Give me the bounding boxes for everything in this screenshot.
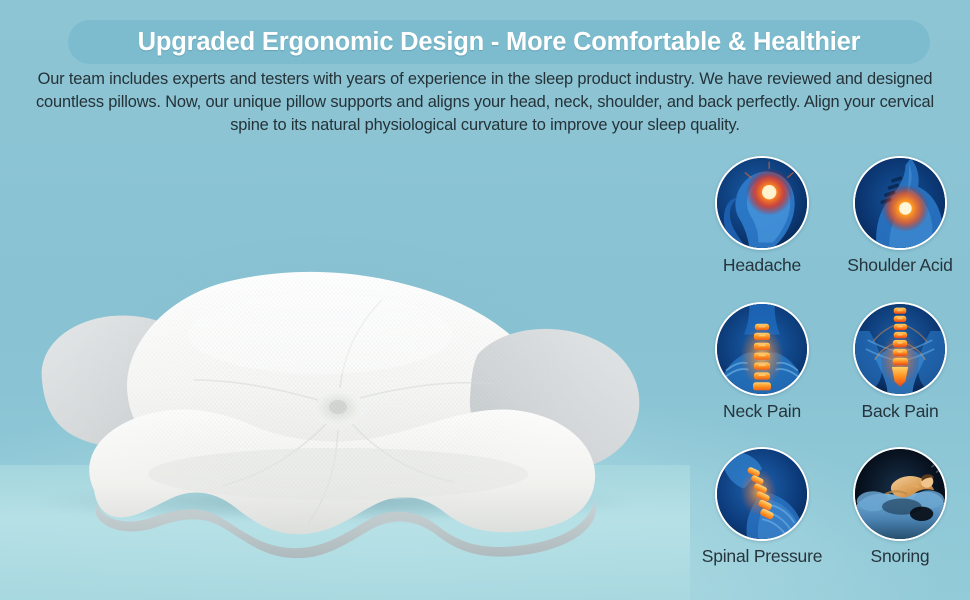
benefit-item-snoring[interactable]: Snoring [838, 447, 962, 566]
headline-text: Upgraded Ergonomic Design - More Comfort… [138, 28, 861, 57]
benefit-item-neck-pain[interactable]: Neck Pain [700, 302, 824, 421]
pillow-dimple-core [329, 400, 347, 414]
intro-paragraph: Our team includes experts and testers wi… [24, 68, 946, 137]
spine-pressure-icon [717, 449, 807, 539]
back-pain-icon-circle [853, 302, 947, 396]
pillow-mid-shading [148, 448, 528, 500]
benefit-item-headache[interactable]: Headache [700, 156, 824, 275]
benefit-item-back-pain[interactable]: Back Pain [838, 302, 962, 421]
benefit-item-spinal-pressure[interactable]: Spinal Pressure [700, 447, 824, 566]
benefit-label-spinal-pressure: Spinal Pressure [702, 548, 823, 566]
snoring-icon-circle [853, 447, 947, 541]
benefit-item-shoulder-acid[interactable]: Shoulder Acid [838, 156, 962, 275]
benefit-label-headache: Headache [723, 257, 801, 275]
headache-icon-circle [715, 156, 809, 250]
benefit-label-neck-pain: Neck Pain [723, 403, 801, 421]
shoulder-pain-icon [855, 158, 945, 248]
shoulder-acid-icon-circle [853, 156, 947, 250]
neck-spine-icon [717, 304, 807, 394]
snoring-sleeper-icon [855, 449, 945, 539]
contour-pillow-illustration [8, 174, 668, 574]
benefit-icon-grid: Headache [700, 156, 962, 566]
benefit-label-snoring: Snoring [871, 548, 930, 566]
benefit-label-shoulder-acid: Shoulder Acid [847, 257, 952, 275]
pillow-top-highlight [188, 294, 452, 374]
product-feature-poster: Upgraded Ergonomic Design - More Comfort… [0, 0, 970, 600]
pillow-svg [8, 174, 668, 574]
headline-banner: Upgraded Ergonomic Design - More Comfort… [68, 20, 930, 64]
neck-pain-icon-circle [715, 302, 809, 396]
back-spine-icon [855, 304, 945, 394]
product-image-area [0, 140, 690, 600]
spinal-pressure-icon-circle [715, 447, 809, 541]
benefit-label-back-pain: Back Pain [862, 403, 939, 421]
head-pain-icon [717, 158, 807, 248]
